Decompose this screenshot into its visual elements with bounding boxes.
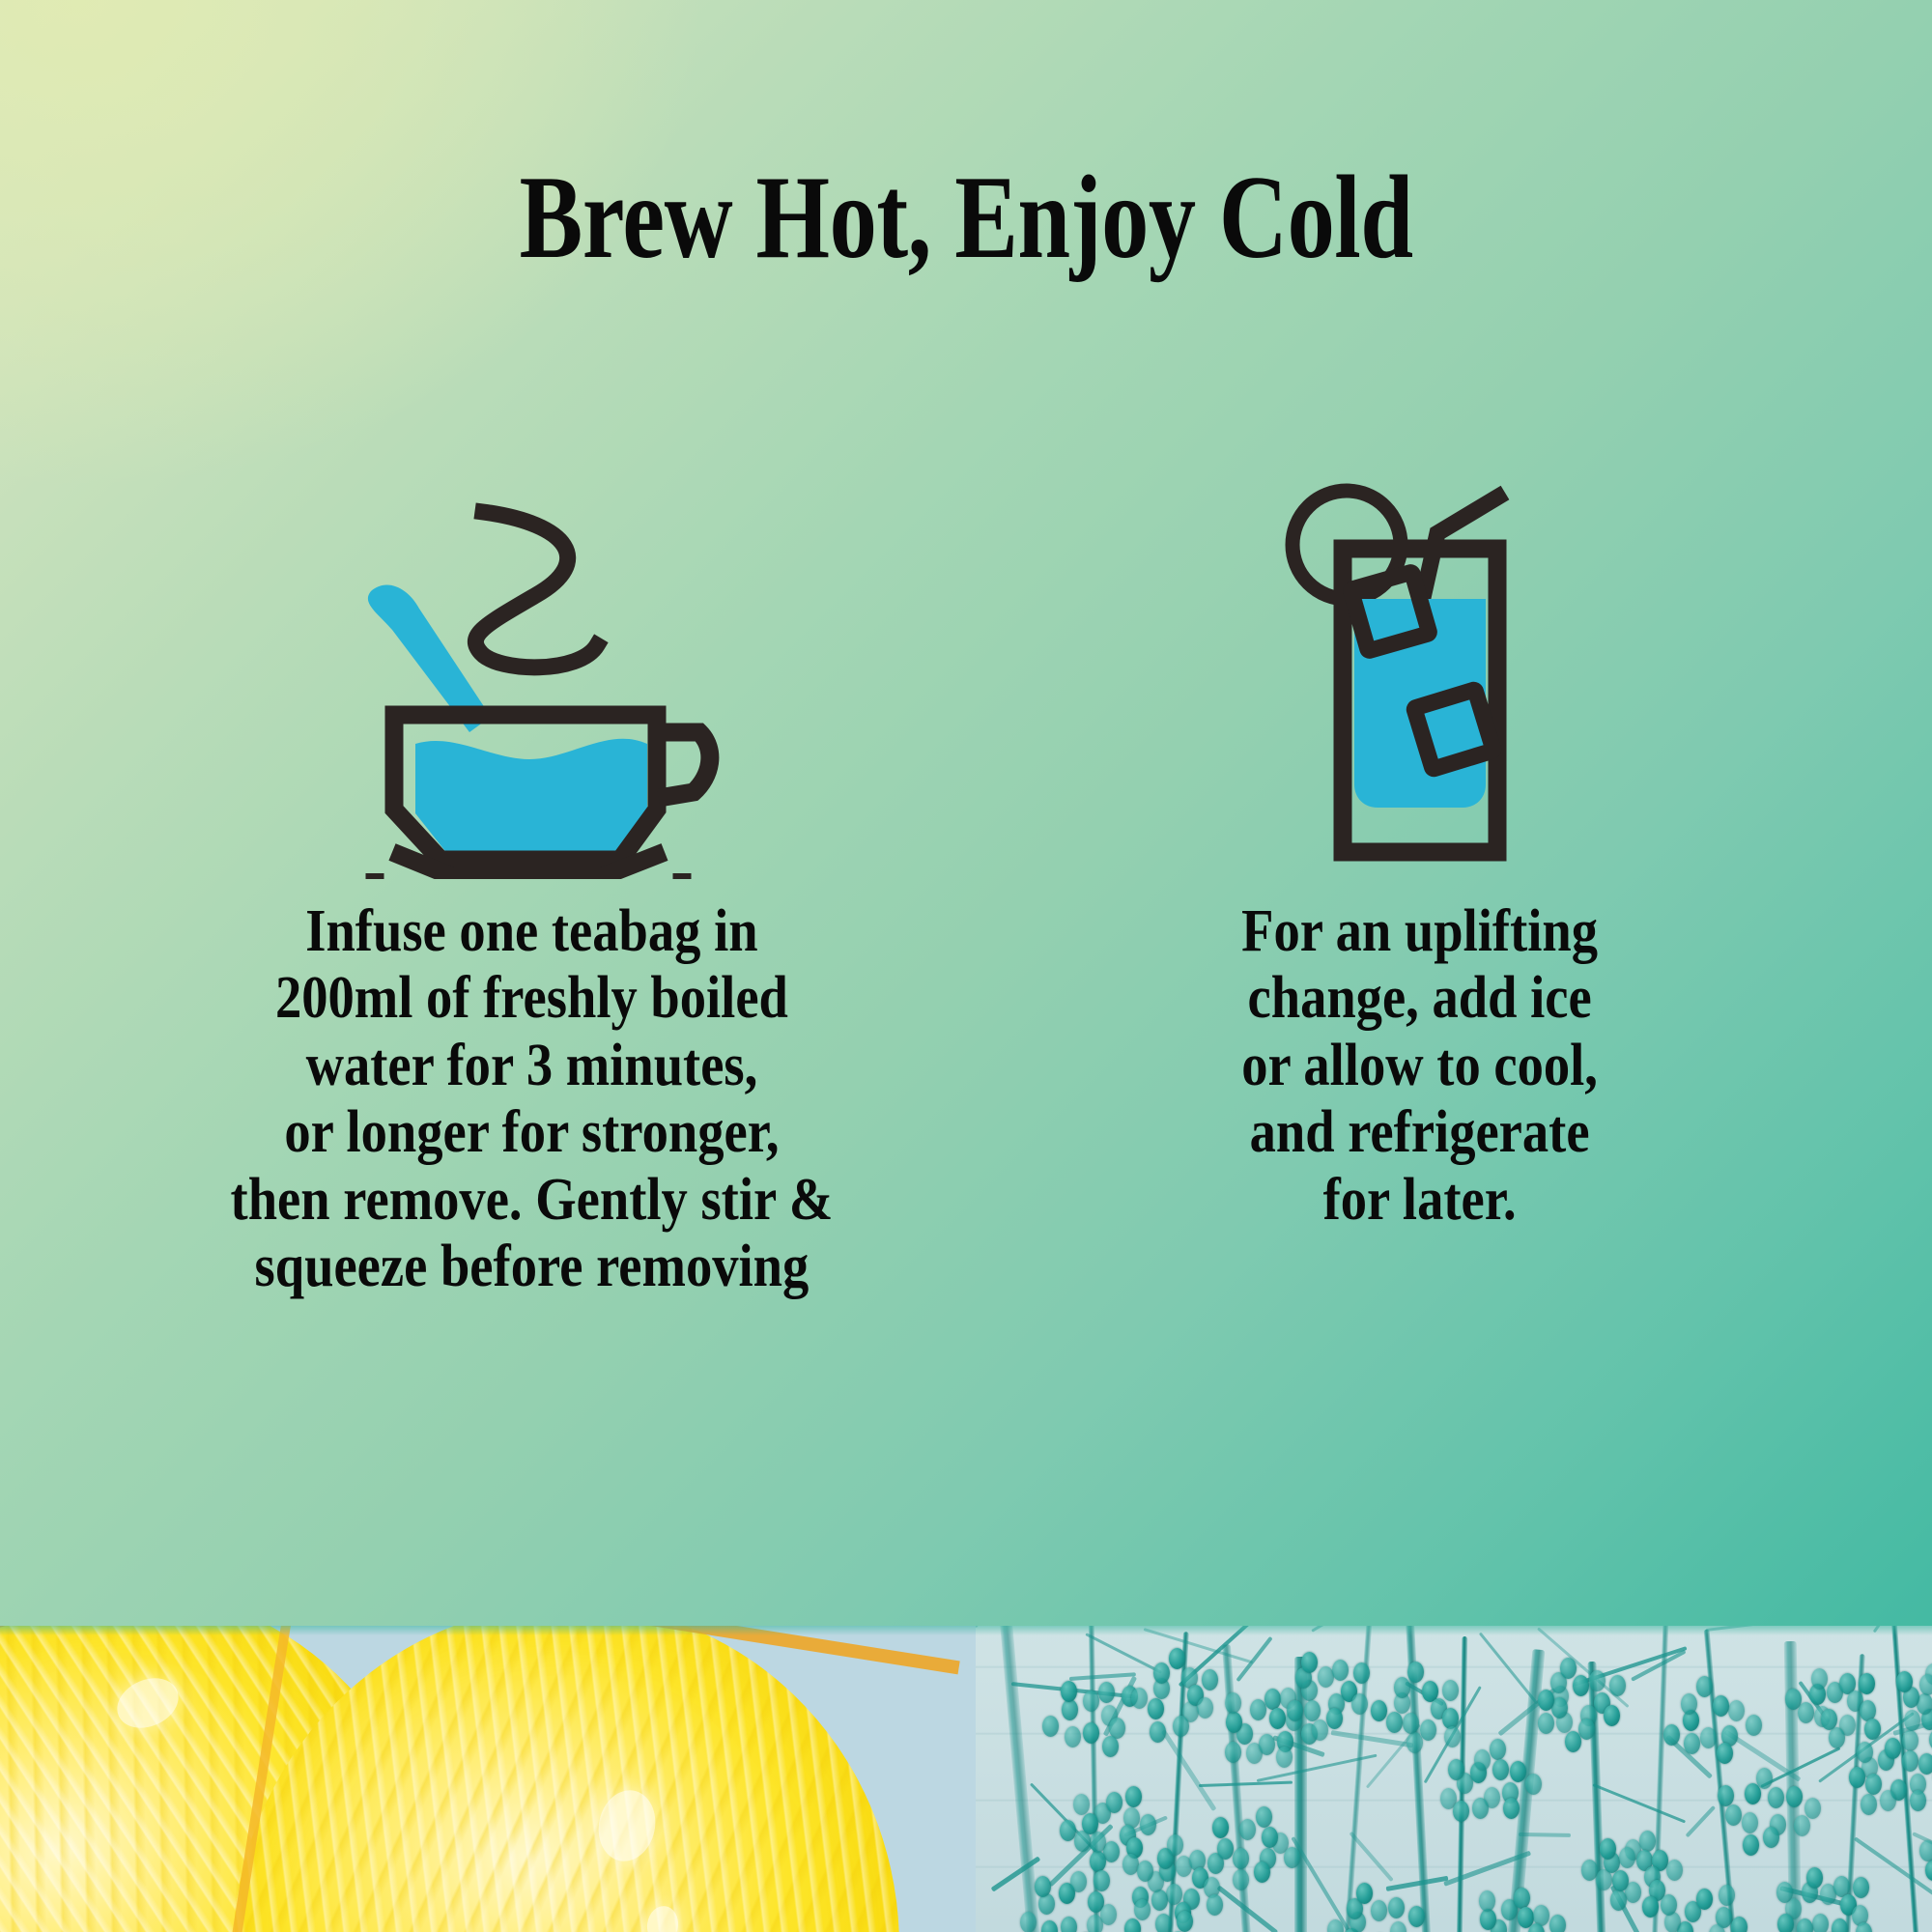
botanical-berry bbox=[1612, 1870, 1629, 1891]
botanical-berry bbox=[1700, 1727, 1717, 1748]
botanical-berry bbox=[1301, 1652, 1318, 1673]
botanical-berry bbox=[1212, 1817, 1229, 1838]
botanical-berry bbox=[1131, 1688, 1148, 1709]
botanical-berry bbox=[1910, 1790, 1926, 1811]
botanical-berry bbox=[1786, 1786, 1803, 1807]
botanical-berry bbox=[1510, 1761, 1526, 1782]
footer-lemon-photo bbox=[0, 1626, 976, 1932]
poster-root: Brew Hot, Enjoy Cold bbox=[0, 0, 1932, 1932]
botanical-berry bbox=[1925, 1860, 1932, 1881]
botanical-berry bbox=[1453, 1801, 1469, 1822]
botanical-berry bbox=[1137, 1861, 1153, 1882]
botanical-berry bbox=[1124, 1918, 1141, 1932]
botanical-berry bbox=[1167, 1834, 1183, 1856]
botanical-berry bbox=[1371, 1900, 1387, 1921]
botanical-berry bbox=[1225, 1692, 1241, 1714]
botanical-berry bbox=[1797, 1918, 1813, 1932]
botanical-berry bbox=[1327, 1919, 1344, 1932]
botanical-berry-cluster bbox=[1314, 1867, 1430, 1932]
botanical-berry bbox=[1919, 1840, 1932, 1861]
botanical-berry bbox=[1390, 1921, 1406, 1932]
botanical-twig bbox=[1311, 1626, 1400, 1633]
teacup-icon-container bbox=[328, 454, 734, 898]
botanical-berry bbox=[1560, 1658, 1577, 1679]
botanical-berry bbox=[1743, 1834, 1759, 1856]
botanical-berry bbox=[1549, 1915, 1566, 1932]
botanical-berry bbox=[1742, 1812, 1758, 1833]
botanical-berry bbox=[1276, 1747, 1293, 1768]
botanical-berry bbox=[1639, 1831, 1656, 1852]
botanical-berry-cluster bbox=[1200, 1788, 1316, 1904]
botanical-berry bbox=[1713, 1695, 1729, 1717]
botanical-berry bbox=[1318, 1666, 1334, 1688]
botanical-berry bbox=[1225, 1742, 1241, 1763]
botanical-berry bbox=[1756, 1768, 1773, 1789]
botanical-berry bbox=[1284, 1847, 1300, 1868]
botanical-berry bbox=[1326, 1708, 1343, 1729]
steps-row: Infuse one teabag in 200ml of freshly bo… bbox=[0, 454, 1932, 1301]
botanical-berry bbox=[1169, 1648, 1185, 1669]
botanical-berry bbox=[1565, 1731, 1581, 1752]
botanical-berry bbox=[1134, 1899, 1151, 1920]
botanical-berry-cluster bbox=[1768, 1848, 1884, 1932]
botanical-berry bbox=[1233, 1869, 1249, 1890]
botanical-berry bbox=[1728, 1700, 1745, 1721]
step-brew-hot-caption: Infuse one teabag in 200ml of freshly bo… bbox=[213, 898, 849, 1301]
iced-glass-icon-container bbox=[1256, 454, 1584, 898]
botanical-berry bbox=[1082, 1813, 1098, 1834]
botanical-berry bbox=[1865, 1774, 1882, 1795]
botanical-berry bbox=[1150, 1721, 1166, 1743]
botanical-berry bbox=[1763, 1827, 1779, 1848]
botanical-berry bbox=[1490, 1739, 1506, 1760]
botanical-berry-cluster bbox=[1884, 1639, 1932, 1755]
botanical-berry bbox=[1098, 1682, 1115, 1703]
botanical-berry bbox=[1472, 1798, 1489, 1819]
botanical-berry bbox=[1312, 1719, 1328, 1741]
botanical-berry bbox=[1448, 1759, 1464, 1780]
botanical-engraving bbox=[976, 1626, 1932, 1932]
botanical-berry bbox=[1812, 1914, 1829, 1932]
botanical-berry bbox=[1663, 1724, 1680, 1746]
botanical-berry bbox=[1832, 1918, 1848, 1932]
botanical-berry bbox=[1849, 1767, 1865, 1788]
botanical-berry bbox=[1148, 1698, 1164, 1719]
botanical-berry bbox=[1371, 1700, 1387, 1721]
botanical-twig bbox=[1706, 1626, 1814, 1632]
botanical-berry bbox=[1479, 1890, 1495, 1912]
botanical-berry bbox=[1041, 1920, 1058, 1932]
botanical-berry bbox=[1514, 1888, 1530, 1909]
botanical-berry bbox=[1386, 1712, 1403, 1733]
botanical-berry bbox=[1684, 1733, 1700, 1754]
title-container: Brew Hot, Enjoy Cold bbox=[0, 155, 1932, 279]
botanical-berry bbox=[1919, 1674, 1932, 1695]
botanical-twig bbox=[976, 1626, 993, 1628]
botanical-berry bbox=[1083, 1690, 1099, 1712]
botanical-berry bbox=[1442, 1680, 1459, 1701]
botanical-berry bbox=[1785, 1689, 1802, 1710]
botanical-berry bbox=[1581, 1860, 1598, 1881]
botanical-berry bbox=[1217, 1838, 1234, 1860]
botanical-berry bbox=[1061, 1681, 1077, 1702]
botanical-berry bbox=[1904, 1710, 1920, 1731]
botanical-berry bbox=[1226, 1712, 1242, 1733]
botanical-berry bbox=[1083, 1722, 1099, 1744]
botanical-berry bbox=[1600, 1838, 1616, 1860]
footer-botanical-photo bbox=[976, 1626, 1932, 1932]
botanical-berry bbox=[1719, 1885, 1735, 1906]
botanical-berry bbox=[1407, 1662, 1424, 1683]
botanical-berry-cluster bbox=[1903, 1809, 1932, 1925]
botanical-berry bbox=[1332, 1660, 1349, 1681]
botanical-berry-cluster bbox=[1459, 1867, 1575, 1932]
botanical-berry bbox=[1102, 1736, 1119, 1757]
page-title: Brew Hot, Enjoy Cold bbox=[519, 155, 1412, 279]
botanical-berry bbox=[1065, 1726, 1081, 1747]
botanical-berry bbox=[1403, 1713, 1419, 1734]
botanical-berry bbox=[1106, 1792, 1122, 1813]
botanical-berry bbox=[1062, 1699, 1078, 1720]
botanical-berry bbox=[1746, 1715, 1762, 1736]
botanical-berry bbox=[1880, 1790, 1896, 1811]
botanical-berry bbox=[1918, 1753, 1932, 1775]
botanical-berry bbox=[1859, 1673, 1875, 1694]
botanical-berry bbox=[1696, 1676, 1713, 1697]
botanical-berry bbox=[1254, 1861, 1270, 1883]
botanical-berry bbox=[1020, 1912, 1037, 1932]
botanical-berry bbox=[1256, 1806, 1272, 1828]
botanical-berry bbox=[1155, 1914, 1172, 1932]
botanical-berry bbox=[1125, 1786, 1142, 1807]
botanical-berry bbox=[1394, 1677, 1410, 1698]
botanical-berry bbox=[1304, 1700, 1321, 1721]
botanical-berry bbox=[1798, 1702, 1814, 1723]
botanical-berry bbox=[1619, 1847, 1635, 1868]
botanical-berry bbox=[1853, 1877, 1869, 1898]
botanical-berry bbox=[1861, 1794, 1877, 1815]
botanical-berry bbox=[1573, 1675, 1589, 1696]
botanical-berry bbox=[1589, 1670, 1605, 1691]
botanical-berry bbox=[1233, 1848, 1249, 1869]
footer-photo-strip bbox=[0, 1626, 1932, 1932]
step-enjoy-cold: For an uplifting change, add ice or allo… bbox=[985, 454, 1855, 1234]
botanical-berry bbox=[1929, 1729, 1932, 1750]
lemon-rind-edge bbox=[199, 1626, 959, 1932]
botanical-berry bbox=[1356, 1883, 1373, 1904]
botanical-berry bbox=[1538, 1713, 1554, 1734]
botanical-berry bbox=[1061, 1917, 1077, 1932]
teacup-with-spoon-and-steam-icon bbox=[338, 473, 724, 879]
botanical-berry bbox=[1578, 1719, 1595, 1740]
step-enjoy-cold-caption: For an uplifting change, add ice or allo… bbox=[1225, 898, 1615, 1234]
botanical-berry bbox=[1604, 1705, 1620, 1726]
botanical-twig bbox=[1873, 1626, 1931, 1633]
botanical-berry bbox=[1768, 1787, 1784, 1808]
botanical-berry bbox=[1718, 1785, 1734, 1806]
botanical-berry-cluster bbox=[1101, 1887, 1217, 1932]
botanical-berry bbox=[1896, 1671, 1913, 1692]
botanical-berry bbox=[1696, 1889, 1713, 1910]
botanical-berry bbox=[1503, 1798, 1520, 1819]
botanical-berry bbox=[1804, 1798, 1821, 1819]
botanical-berry bbox=[1610, 1889, 1627, 1911]
iced-glass-with-straw-and-lemon-icon bbox=[1275, 473, 1565, 879]
botanical-berry bbox=[1474, 1749, 1491, 1771]
botanical-berry bbox=[1731, 1917, 1747, 1932]
botanical-berry bbox=[1681, 1693, 1697, 1715]
botanical-berry bbox=[1177, 1911, 1193, 1932]
botanical-berry bbox=[1388, 1897, 1405, 1918]
botanical-berry bbox=[1609, 1675, 1626, 1696]
botanical-berry-cluster bbox=[1517, 1643, 1633, 1759]
botanical-berry bbox=[1042, 1716, 1059, 1737]
botanical-berry bbox=[1173, 1716, 1189, 1737]
botanical-berry-cluster bbox=[1642, 1867, 1758, 1932]
botanical-berry bbox=[1777, 1914, 1794, 1932]
botanical-berry bbox=[1811, 1668, 1828, 1690]
botanical-berry bbox=[1492, 1759, 1509, 1780]
botanical-berry bbox=[1239, 1819, 1256, 1840]
botanical-berry bbox=[1806, 1867, 1823, 1889]
botanical-berry bbox=[1856, 1922, 1872, 1932]
botanical-berry bbox=[1794, 1815, 1810, 1836]
botanical-berry bbox=[1725, 1804, 1742, 1826]
botanical-berry bbox=[1408, 1906, 1425, 1927]
step-brew-hot: Infuse one teabag in 200ml of freshly bo… bbox=[77, 454, 985, 1301]
botanical-berry bbox=[1525, 1774, 1542, 1795]
botanical-berry bbox=[1287, 1700, 1303, 1721]
botanical-berry bbox=[1073, 1794, 1090, 1815]
botanical-berry bbox=[1070, 1871, 1087, 1892]
